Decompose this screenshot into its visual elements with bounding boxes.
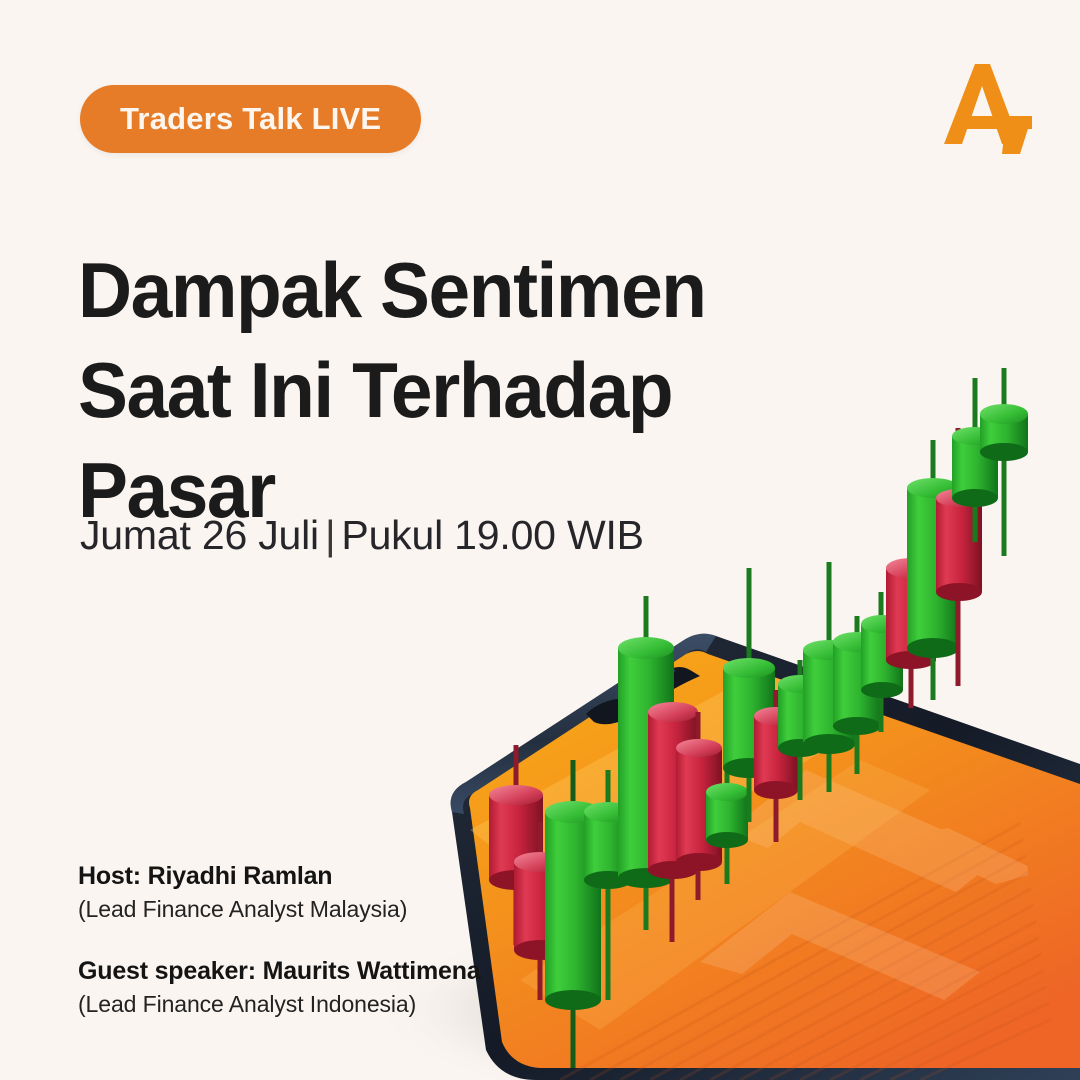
brand-a-logo bbox=[928, 58, 1040, 166]
guest-speaker-name: Guest speaker: Maurits Wattimena bbox=[78, 957, 481, 986]
traders-talk-live-badge[interactable]: Traders Talk LIVE bbox=[80, 85, 421, 153]
badge-label: Traders Talk LIVE bbox=[120, 101, 381, 137]
poster-canvas: Traders Talk LIVE Dampak Sentimen Saat I… bbox=[0, 0, 1080, 1080]
guest-speaker-block: Guest speaker: Maurits Wattimena (Lead F… bbox=[78, 957, 481, 1018]
title-line-1: Dampak Sentimen bbox=[78, 240, 769, 340]
title-line-2: Saat Ini Terhadap bbox=[78, 340, 769, 440]
host-role: (Lead Finance Analyst Malaysia) bbox=[78, 896, 481, 923]
host-name: Host: Riyadhi Ramlan bbox=[78, 862, 481, 891]
datetime-separator: | bbox=[319, 512, 341, 558]
event-time: Pukul 19.00 WIB bbox=[341, 512, 643, 558]
event-datetime: Jumat 26 Juli|Pukul 19.00 WIB bbox=[80, 512, 644, 559]
guest-speaker-role: (Lead Finance Analyst Indonesia) bbox=[78, 991, 481, 1018]
host-block: Host: Riyadhi Ramlan (Lead Finance Analy… bbox=[78, 862, 481, 923]
speakers-section: Host: Riyadhi Ramlan (Lead Finance Analy… bbox=[78, 862, 481, 1052]
page-title: Dampak Sentimen Saat Ini Terhadap Pasar bbox=[78, 240, 769, 540]
event-date: Jumat 26 Juli bbox=[80, 512, 319, 558]
